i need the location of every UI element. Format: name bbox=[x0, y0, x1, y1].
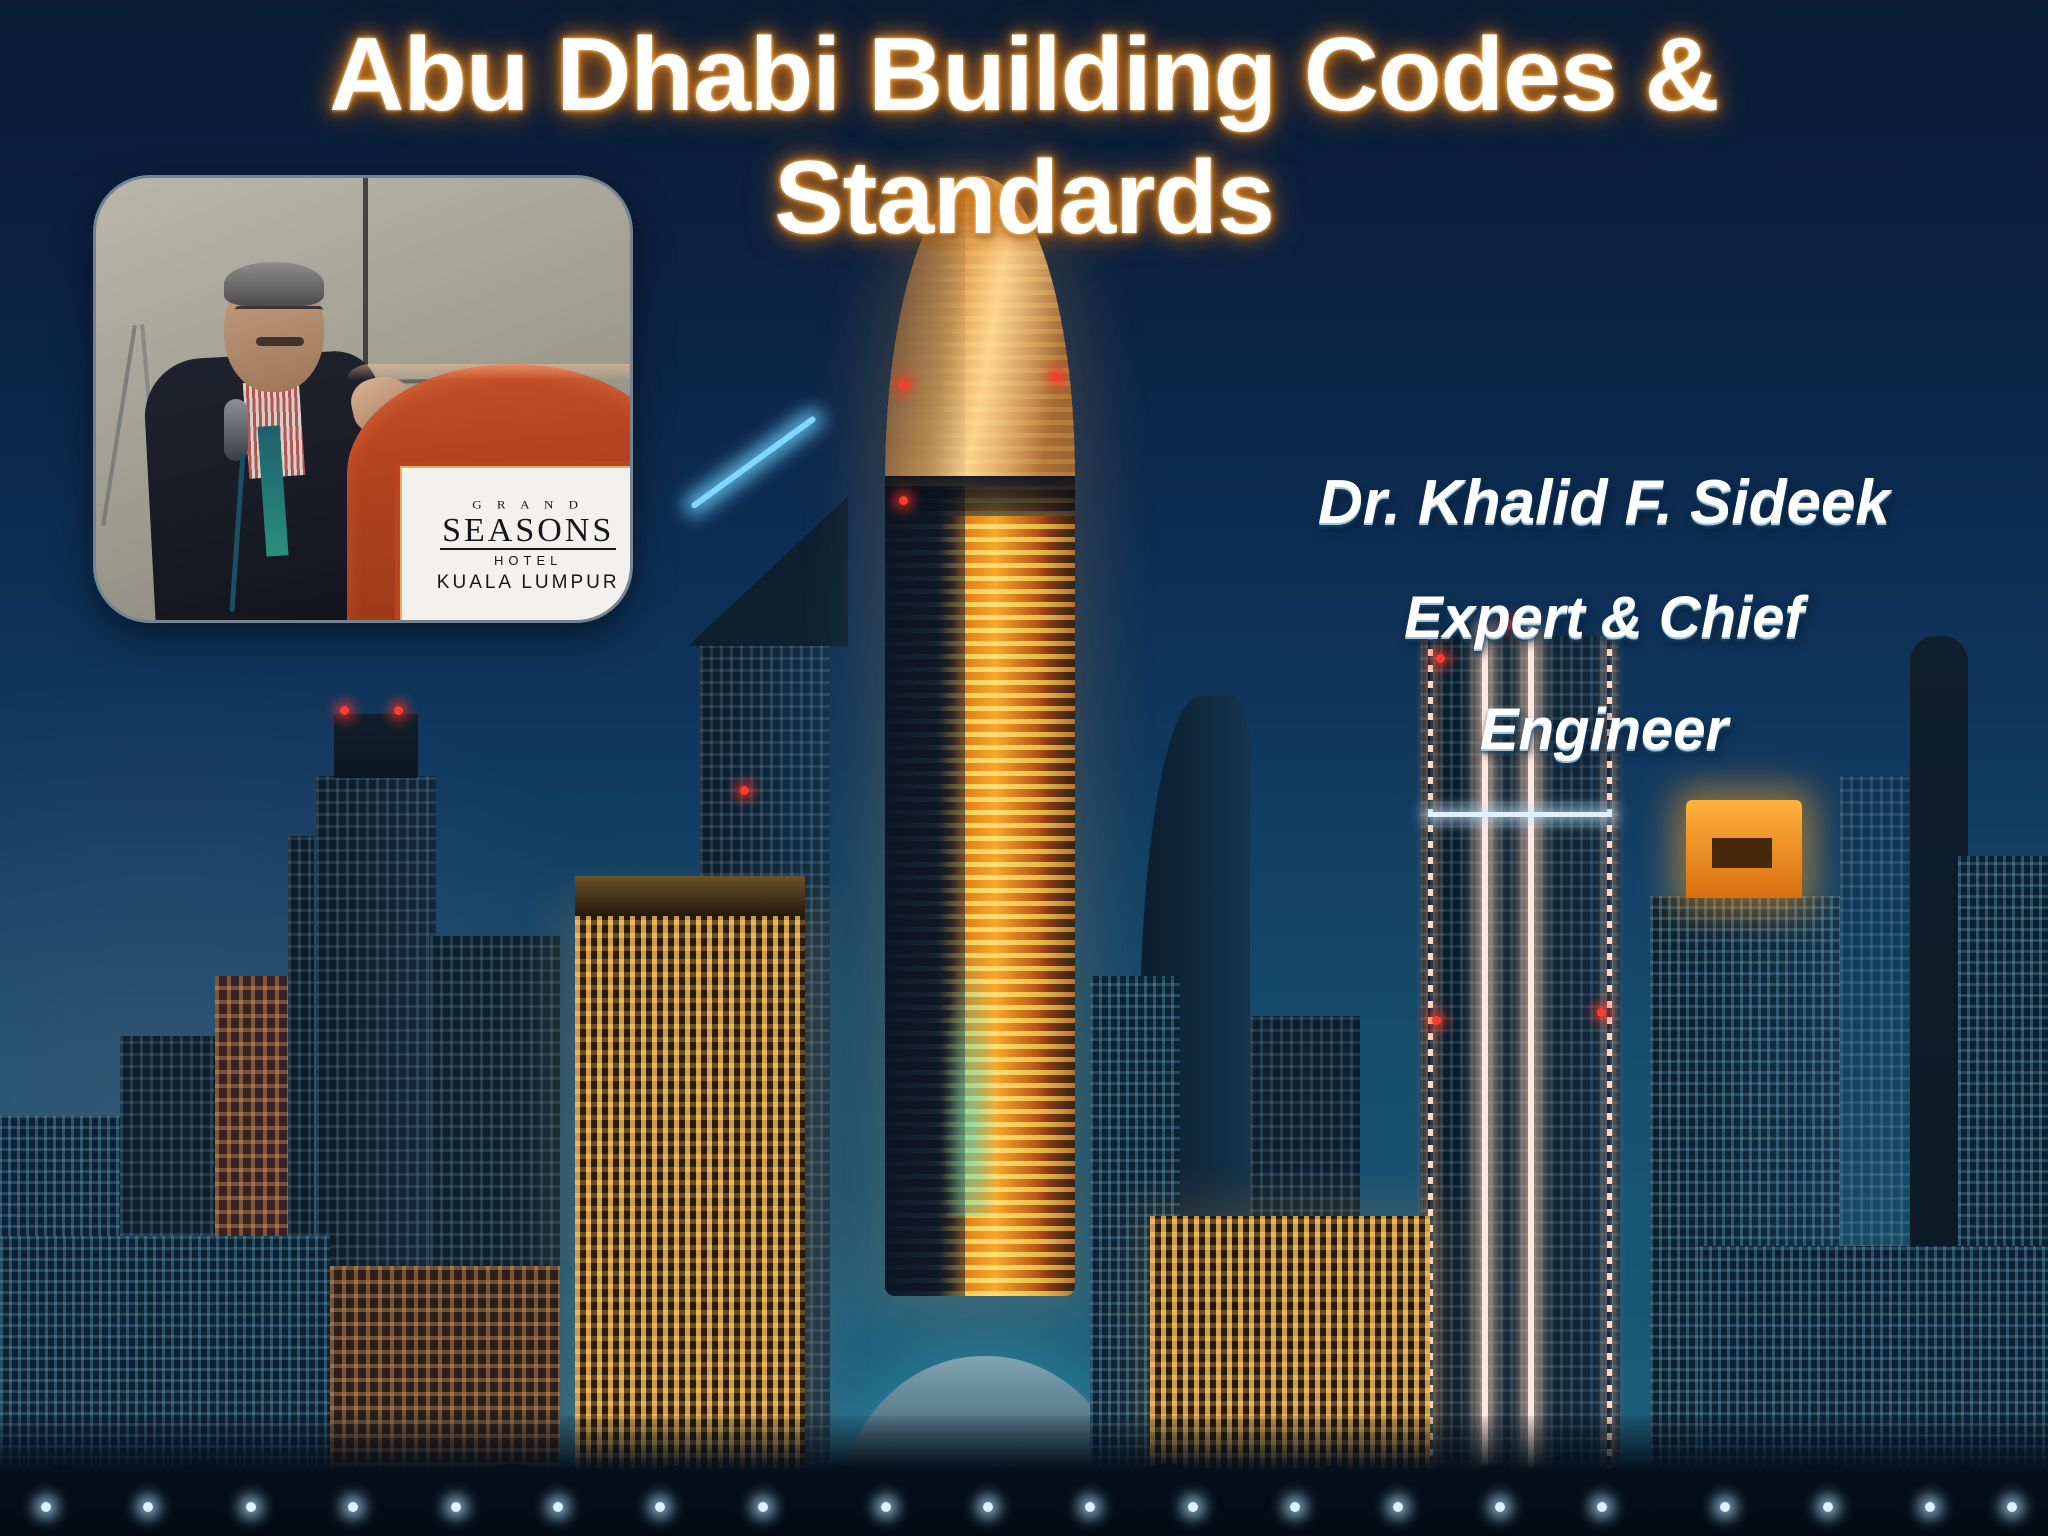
photo-speaker-moustache bbox=[256, 337, 304, 346]
photo-speaker-glasses bbox=[235, 306, 323, 324]
slide-title-line-1: Abu Dhabi Building Codes & bbox=[0, 14, 2048, 137]
podium-sign-seasons-text: SEASONS bbox=[440, 513, 616, 551]
speaker-name: Dr. Khalid F. Sideek bbox=[1224, 455, 1984, 551]
photo-podium-top-edge bbox=[347, 364, 630, 380]
street-lights bbox=[0, 1452, 2048, 1512]
podium-sign-hotel-text: HOTEL bbox=[494, 553, 562, 568]
photo-microphone bbox=[224, 399, 248, 461]
speaker-credit: Dr. Khalid F. Sideek Expert & Chief Engi… bbox=[1224, 455, 1984, 775]
photo-speaker-hair bbox=[224, 262, 324, 306]
podium-sign-grand-text: G R A N D bbox=[472, 497, 584, 511]
building-hero-tower bbox=[885, 176, 1075, 1296]
podium-sign-city-text: KUALA LUMPUR bbox=[437, 572, 620, 594]
building-golden-stepped-top bbox=[575, 876, 805, 916]
speaker-photo: G R A N D SEASONS HOTEL KUALA LUMPUR bbox=[96, 178, 630, 620]
speaker-role-line-2: Engineer bbox=[1224, 685, 1984, 775]
photo-podium-sign: G R A N D SEASONS HOTEL KUALA LUMPUR bbox=[395, 461, 630, 620]
presentation-slide: Abu Dhabi Building Codes & Standards Dr.… bbox=[0, 0, 2048, 1536]
speaker-role-line-1: Expert & Chief bbox=[1224, 573, 1984, 663]
